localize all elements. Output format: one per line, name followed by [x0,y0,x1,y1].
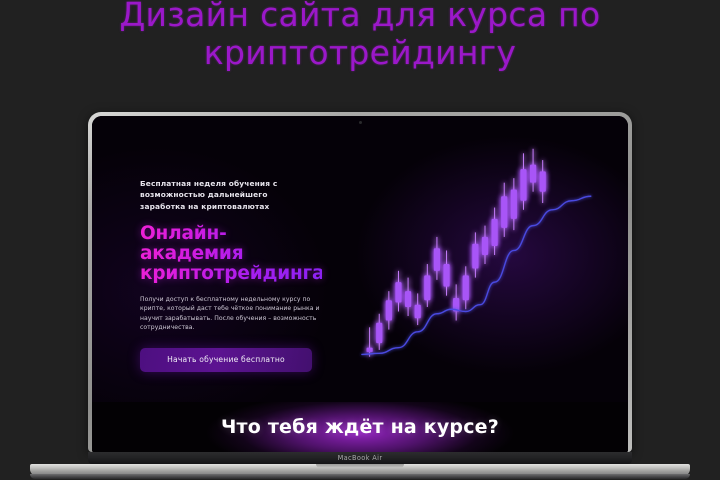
candle-body [492,219,498,246]
hero-kicker: Бесплатная неделя обучения с возможность… [140,178,322,212]
candle-body [511,189,517,218]
candle-body [376,323,382,343]
device-model-label: MacBook Air [338,454,383,462]
candle-series [367,149,546,357]
course-section-band: Что тебя ждёт на курсе? [92,402,628,452]
candle-body [472,244,478,269]
laptop-chin: MacBook Air [88,452,632,464]
laptop-base-shadow [30,474,690,479]
website-preview: Бесплатная неделя обучения с возможность… [92,116,628,452]
candlestick-chart [352,134,620,384]
candle-body [482,237,488,255]
candle-body [386,300,392,320]
hero-headline: Онлайн-академия криптотрейдинга [140,224,322,284]
candle-body [405,291,411,307]
laptop-lid: Бесплатная неделя обучения с возможность… [88,112,632,452]
hero-copy: Бесплатная неделя обучения с возможность… [140,178,322,372]
macbook-laptop-mockup: Бесплатная неделя обучения с возможность… [88,112,632,452]
candle-body [540,171,546,191]
candle-body [530,165,536,183]
hero-blurb: Получи доступ к бесплатному недельному к… [140,295,322,333]
band-title: Что тебя ждёт на курсе? [221,416,499,438]
candle-body [395,282,401,302]
candle-body [415,305,421,319]
trend-line [362,196,591,354]
candle-body [463,275,469,300]
candlestick-chart-svg [352,134,620,384]
candle-body [443,264,449,287]
page-title: Дизайн сайта для курса по криптотрейдинг… [0,0,720,72]
candle-body [520,169,526,201]
candle-body [501,196,507,228]
candle-body [367,348,373,353]
laptop-screen: Бесплатная неделя обучения с возможность… [92,116,628,452]
start-free-training-button[interactable]: Начать обучение бесплатно [140,348,312,372]
camera-dot-icon [359,121,362,124]
hero-section: Бесплатная неделя обучения с возможность… [92,116,628,406]
candle-body [434,248,440,271]
candle-body [424,275,430,300]
screenshot-root: Дизайн сайта для курса по криптотрейдинг… [0,0,720,480]
